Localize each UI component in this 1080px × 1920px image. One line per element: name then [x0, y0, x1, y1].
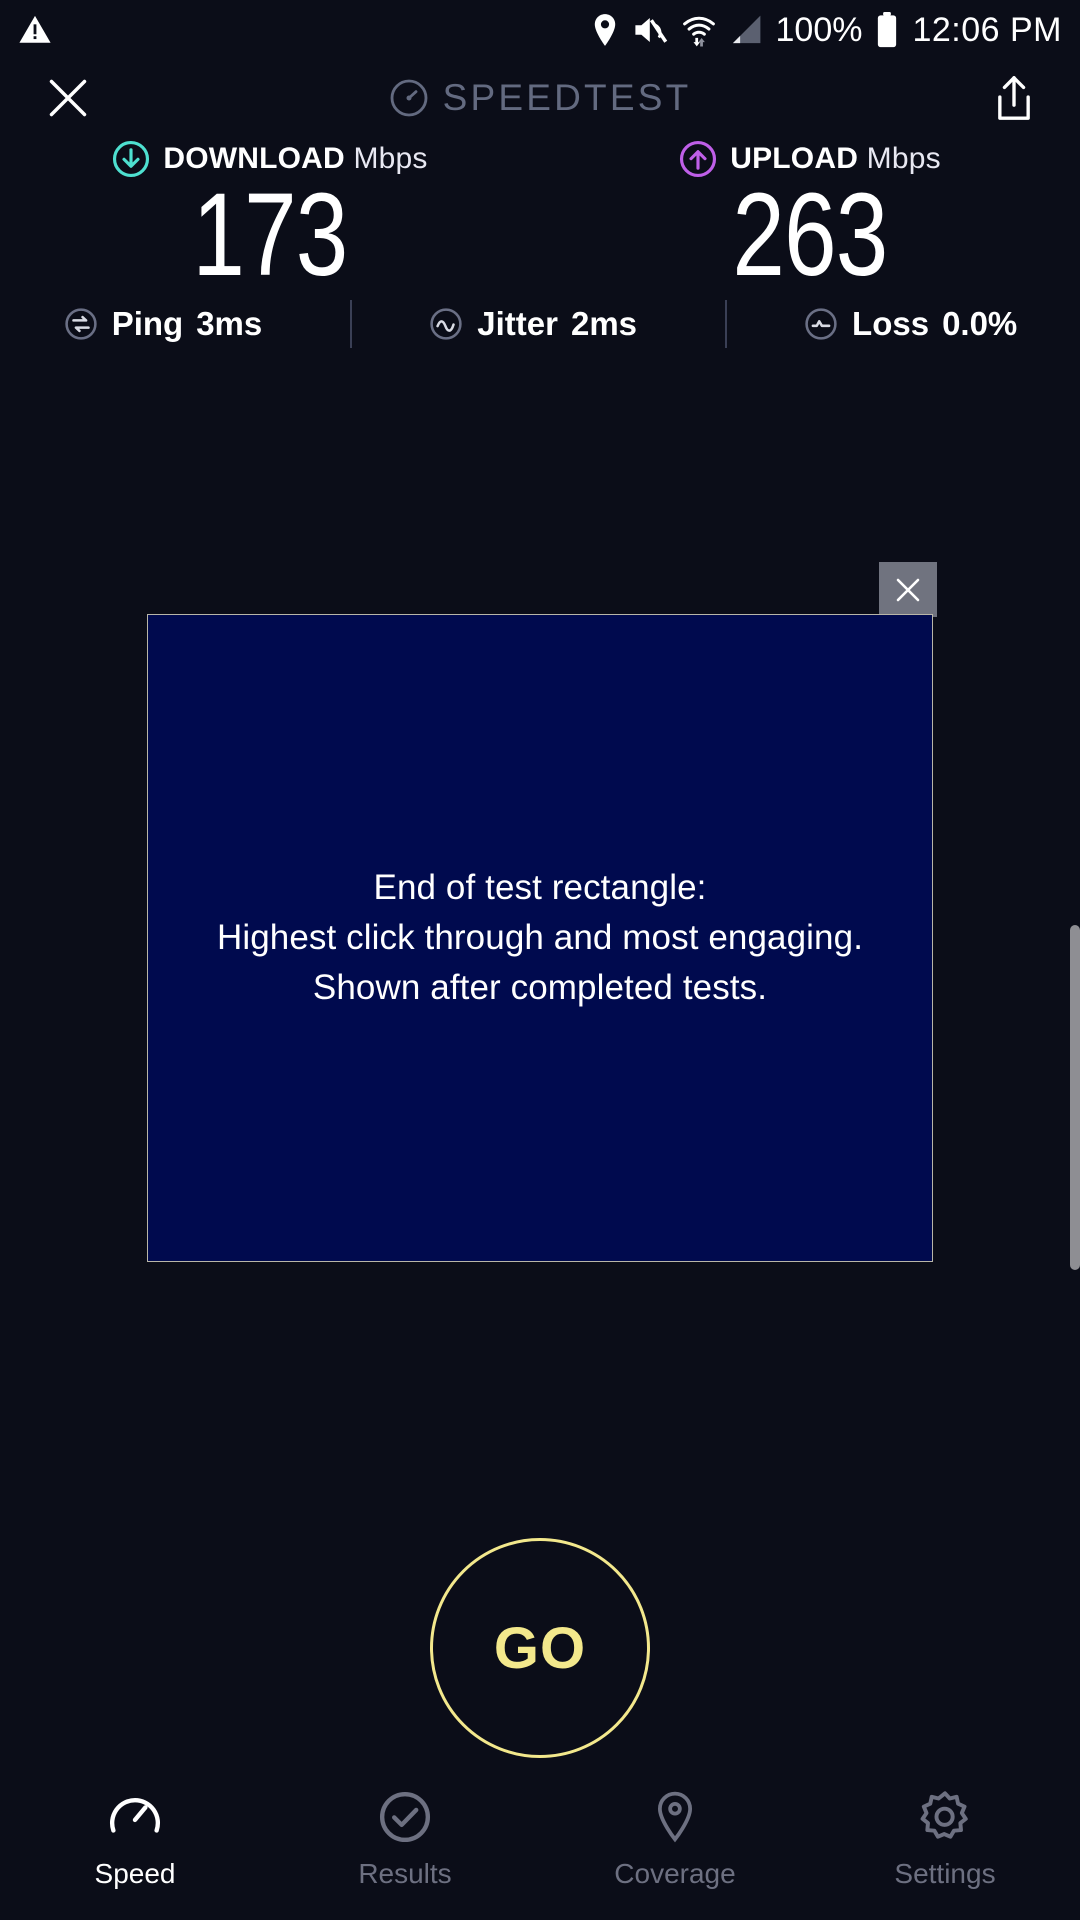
close-icon: [46, 76, 90, 120]
jitter-label: Jitter: [477, 305, 558, 343]
nav-item-results[interactable]: Results: [270, 1790, 540, 1890]
ad-line-1: End of test rectangle:: [217, 863, 863, 913]
go-button-label: GO: [494, 1615, 586, 1682]
nav-label-settings: Settings: [894, 1858, 995, 1890]
app-title-group: SPEEDTEST: [0, 77, 1080, 119]
loss-icon: [803, 306, 839, 342]
battery-percent-label: 100%: [776, 11, 863, 50]
jitter-metric: Jitter 2ms: [428, 305, 637, 343]
location-pin-icon: [648, 1790, 702, 1844]
clock-label: 12:06 PM: [912, 11, 1062, 50]
divider-1: [350, 300, 352, 348]
ad-line-3: Shown after completed tests.: [217, 963, 863, 1013]
status-bar-right: 100% 12:06 PM: [590, 11, 1063, 50]
gear-icon: [918, 1790, 972, 1844]
wifi-icon: [682, 13, 716, 47]
ping-metric: Ping 3ms: [63, 305, 263, 343]
nav-label-results: Results: [358, 1858, 451, 1890]
ping-label: Ping: [112, 305, 184, 343]
loss-label: Loss: [852, 305, 929, 343]
speedometer-icon: [108, 1790, 162, 1844]
speedometer-icon: [389, 78, 429, 118]
download-metric: DOWNLOAD Mbps 173: [0, 140, 540, 298]
status-bar: 100% 12:06 PM: [0, 0, 1080, 60]
loss-metric: Loss 0.0%: [803, 305, 1017, 343]
upload-metric: UPLOAD Mbps 263: [540, 140, 1080, 298]
bottom-navigation: Speed Results Coverage Settings: [0, 1760, 1080, 1920]
app-header: SPEEDTEST: [0, 60, 1080, 135]
ad-text: End of test rectangle: Highest click thr…: [217, 863, 863, 1012]
nav-label-coverage: Coverage: [614, 1858, 735, 1890]
jitter-icon: [428, 306, 464, 342]
share-button[interactable]: [988, 70, 1040, 126]
network-quality-row: Ping 3ms Jitter 2ms Loss 0.0%: [0, 300, 1080, 348]
nav-item-speed[interactable]: Speed: [0, 1790, 270, 1890]
divider-2: [725, 300, 727, 348]
check-circle-icon: [378, 1790, 432, 1844]
nav-label-speed: Speed: [95, 1858, 176, 1890]
upload-arrow-icon: [679, 140, 717, 178]
download-value: 173: [192, 174, 347, 298]
ad-line-2: Highest click through and most engaging.: [217, 913, 863, 963]
ping-icon: [63, 306, 99, 342]
speedtest-app: 100% 12:06 PM SPEEDTEST: [0, 0, 1080, 1920]
upload-value: 263: [732, 174, 887, 298]
ad-close-button[interactable]: [879, 562, 937, 617]
nav-item-coverage[interactable]: Coverage: [540, 1790, 810, 1890]
speed-row: DOWNLOAD Mbps 173 UPLOAD Mbps 263: [0, 140, 1080, 298]
jitter-value: 2ms: [571, 305, 637, 343]
location-pin-icon: [590, 13, 620, 47]
close-test-button[interactable]: [40, 70, 96, 126]
ping-value: 3ms: [196, 305, 262, 343]
results-panel: DOWNLOAD Mbps 173 UPLOAD Mbps 263: [0, 140, 1080, 298]
go-button[interactable]: GO: [430, 1538, 650, 1758]
advertisement-banner[interactable]: End of test rectangle: Highest click thr…: [147, 614, 933, 1262]
download-arrow-icon: [112, 140, 150, 178]
scrollbar-thumb[interactable]: [1070, 925, 1080, 1270]
mute-icon: [633, 14, 669, 46]
close-icon: [893, 575, 923, 605]
warning-triangle-icon: [18, 13, 52, 47]
page-title: SPEEDTEST: [443, 77, 692, 119]
nav-item-settings[interactable]: Settings: [810, 1790, 1080, 1890]
share-icon: [993, 75, 1035, 121]
loss-value: 0.0%: [942, 305, 1017, 343]
battery-full-icon: [875, 12, 899, 48]
cell-signal-icon: [729, 14, 763, 46]
status-bar-left: [18, 13, 52, 47]
